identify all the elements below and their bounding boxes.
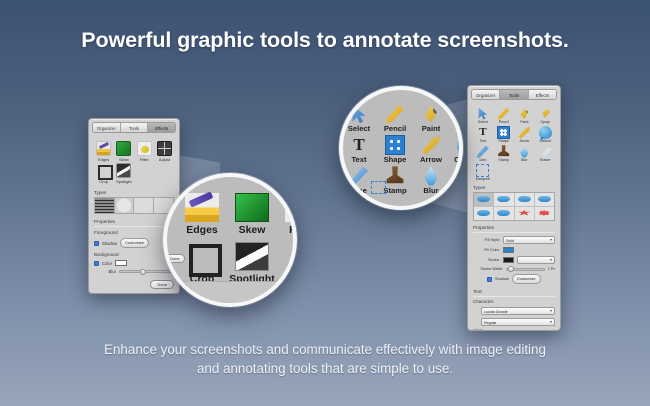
effect-item-adjust[interactable]: Adjust [155,141,174,162]
tab-organizer[interactable]: Organizer [93,123,121,132]
divider [473,232,555,233]
types-label: Types [473,185,555,190]
type-swatch-grid[interactable] [95,198,115,213]
effect-label: Adjust [155,157,174,162]
shadow-checkbox[interactable] [94,241,99,246]
stroke-row[interactable]: Stroke: [473,256,555,264]
lens-tool-label: Callout [449,155,463,164]
tool-item-select[interactable]: Select [473,107,493,125]
foreground-label: Foreground [94,230,174,235]
font-family-select[interactable]: Lucida Grande [481,307,555,315]
fill-color-swatch[interactable] [503,247,514,253]
tool-item-text[interactable]: T Text [473,126,493,144]
lens-effect-skew: Skew [227,193,277,236]
marquee-icon [371,181,386,194]
spray-icon [539,107,552,120]
blur-icon [518,145,531,158]
foreground-shadow-row[interactable]: Shadow Customize [94,238,174,248]
tools-panel[interactable]: Organizer Tools Effects Select Pencil Pa… [467,85,561,331]
types-swatch-row[interactable] [94,197,174,214]
callout-swatch-5[interactable] [474,207,493,220]
text-label: Text: [473,289,555,294]
callout-swatch-6[interactable] [494,207,513,220]
callout-types-grid[interactable] [473,192,555,221]
tool-label: Shape [494,139,514,144]
tab-organizer[interactable]: Organizer [472,90,500,99]
select-arrow-icon [476,107,489,120]
tool-item-shape[interactable]: Shape [494,126,514,144]
effect-item-edges[interactable]: Edges [94,141,113,162]
fill-style-select[interactable]: Solid [503,236,555,244]
caption-line-1: Enhance your screenshots and communicate… [55,340,595,359]
blur-slider[interactable] [119,270,174,273]
pencil-icon [385,104,405,124]
type-swatch-oval[interactable] [115,198,135,213]
stroke-label: Stroke: [473,258,500,262]
lens-panel-footer [167,281,293,303]
callout-swatch-8[interactable] [535,207,554,220]
arrow-icon [421,135,441,155]
tool-item-paint[interactable]: Paint [515,107,535,125]
blur-label: Blur [94,269,116,274]
lens-effect-spotlight: Spotlight [227,242,277,285]
background-color-swatch[interactable] [115,260,127,266]
tools-grid[interactable]: Select Pencil Paint Spray T Text Shape A… [473,107,555,182]
eraser-icon [539,145,552,158]
tool-label: Eraser [535,158,555,163]
character-label: Character: [473,299,555,304]
tab-effects[interactable]: Effects [148,123,175,132]
arrow-icon [518,126,531,139]
tool-label: Pencil [494,120,514,125]
lens-tool-select: Select [341,104,377,133]
lens-effect-filter: Filter [277,193,297,236]
tool-label: Select [473,120,493,125]
lens-tool-paint: Paint [413,104,449,133]
skew-icon [116,141,131,156]
background-color-row[interactable]: Color [94,260,174,266]
paint-bucket-icon [421,104,441,124]
magnifier-lens-tools: Select Pencil Paint Spr T Text Shape Arr… [339,86,463,210]
lens-tool-shape: Shape [377,135,413,164]
filter-icon [137,141,152,156]
lens-tool-blur: Blur [413,166,449,195]
line-icon [476,145,489,158]
tool-label: Spray [535,120,555,125]
tool-item-stamp[interactable]: Stamp [494,145,514,163]
lens-tool-label: Pencil [377,124,413,133]
tab-tools[interactable]: Tools [500,90,528,99]
tools-panel-tabbar[interactable]: Organizer Tools Effects [471,89,557,100]
effect-item-filter[interactable]: Filter [135,141,154,162]
lens-effect-label: Skew [227,224,277,236]
edges-icon [96,141,111,156]
callout-swatch-2[interactable] [494,193,513,206]
caption-line-2: and annotating tools that are simple to … [55,359,595,378]
text-icon: T [349,135,369,155]
lens-tool-pencil: Pencil [377,104,413,133]
fill-style-row[interactable]: Fill Style: Solid [473,236,555,244]
lens-tool-label: Paint [413,124,449,133]
tool-label: Arrow [515,139,535,144]
stroke-style-select[interactable] [517,256,555,264]
tool-label: Stamp [494,158,514,163]
fill-color-label: Fill Color: [473,248,500,252]
effect-item-spotlight[interactable]: Spotlight [114,163,133,184]
select-arrow-icon [349,104,369,124]
fill-style-label: Fill Style: [473,238,500,242]
divider [94,226,174,227]
crop-icon [185,242,219,271]
effect-label: Filter [135,157,154,162]
types-label: Types [94,190,174,195]
properties-label: Properties [94,219,174,224]
spotlight-icon [116,163,131,178]
lens-tool-label: Select [341,124,377,133]
tool-item-pencil[interactable]: Pencil [494,107,514,125]
properties-label: Properties [473,225,555,230]
page-title: Powerful graphic tools to annotate scree… [0,28,650,53]
edges-icon [185,193,219,222]
tool-label: Blur [515,158,535,163]
callout-swatch-7[interactable] [515,207,534,220]
lens-effect-crop: Crop [177,242,227,285]
filter-icon [285,193,297,222]
tool-item-callout[interactable]: Callout [535,126,555,144]
crop-icon [96,163,111,178]
shape-icon [497,126,510,139]
size-label: Size: [473,328,555,331]
tab-effects[interactable]: Effects [529,90,556,99]
lens-tools-grid: Select Pencil Paint Spr T Text Shape Arr… [341,104,463,195]
color-label: Color [102,261,112,266]
lens-effect-label: Filter [277,224,297,236]
callout-icon [457,135,463,155]
shadow-label: Shadow [495,277,509,281]
lens-effect-label: Edges [177,224,227,236]
paint-bucket-icon [518,107,531,120]
color-checkbox[interactable] [94,261,99,266]
marquee-icon [476,164,489,177]
lens-tool-arrow: Arrow [413,135,449,164]
line-icon [349,166,369,186]
tool-label: Marquee [473,177,493,182]
tool-item-line[interactable]: Line [473,145,493,163]
stamp-icon [385,166,405,186]
tab-tools[interactable]: Tools [121,123,149,132]
tool-item-eraser[interactable]: Eraser [535,145,555,163]
blur-icon [421,166,441,186]
tool-item-blur[interactable]: Blur [515,145,535,163]
lens-tool-label: Shape [377,155,413,164]
tool-item-spray[interactable]: Spray [535,107,555,125]
lens-effects-grid: Edges Skew Filter Crop Spotlight [177,193,297,285]
shadow-label: Shadow [102,241,117,246]
customize-button[interactable]: Customize [512,274,541,284]
stamp-icon [497,145,510,158]
stroke-width-slider[interactable] [506,268,545,271]
magnifier-lens-effects: Done Edges Skew Filter Crop Spotlight ne… [163,173,297,307]
callout-icon [539,126,552,139]
tool-label: Line [473,158,493,163]
stroke-width-label: Stroke Width: [473,267,503,271]
skew-icon [235,193,269,222]
effects-panel[interactable]: Organizer Tools Effects Edges Skew Filte… [88,118,180,294]
shape-icon [385,135,405,155]
text-icon: T [476,126,489,139]
type-swatch-rounded[interactable] [134,198,154,213]
shadow-row[interactable]: Shadow Customize [473,274,555,284]
tool-item-marquee[interactable]: Marquee [473,164,493,182]
effect-label: Edges [94,157,113,162]
font-family-row[interactable]: Lucida Grande [473,307,555,315]
lens-tool-label: Blur [413,186,449,195]
effect-label: Skew [114,157,133,162]
stroke-color-swatch[interactable] [503,257,514,263]
customize-button[interactable]: Customize [120,238,149,248]
divider [473,296,555,297]
tool-label: Callout [535,139,555,144]
tool-label: Paint [515,120,535,125]
effect-label: Spotlight [114,179,133,184]
effect-item-crop[interactable]: Crop [94,163,113,184]
adjust-icon [157,141,172,156]
effects-panel-tabbar[interactable]: Organizer Tools Effects [92,122,176,133]
lens-tool-callout: Callout [449,135,463,164]
callout-swatch-3[interactable] [515,193,534,206]
lens-tool-text: T Text [341,135,377,164]
pencil-icon [497,107,510,120]
effects-grid[interactable]: Edges Skew Filter Adjust Crop Spotlight [94,141,174,184]
spotlight-icon [235,242,269,271]
font-style-row[interactable]: Regular [473,318,555,326]
fill-color-row[interactable]: Fill Color: [473,247,555,253]
shadow-checkbox[interactable] [487,277,492,282]
callout-swatch-4[interactable] [535,193,554,206]
tool-item-arrow[interactable]: Arrow [515,126,535,144]
callout-swatch-1[interactable] [474,193,493,206]
lens-tool-label: Arrow [413,155,449,164]
lens-tool-label: Text [341,155,377,164]
background-label: Background [94,252,174,257]
tool-label: Text [473,139,493,144]
font-style-select[interactable]: Regular [481,318,555,326]
page-caption: Enhance your screenshots and communicate… [55,340,595,378]
lens-effect-edges: Edges [177,193,227,236]
stroke-width-row[interactable]: Stroke Width: 1 Px [473,267,555,271]
effect-item-skew[interactable]: Skew [114,141,133,162]
background-blur-row[interactable]: Blur [94,269,174,274]
stroke-width-value: 1 Px [548,267,555,271]
